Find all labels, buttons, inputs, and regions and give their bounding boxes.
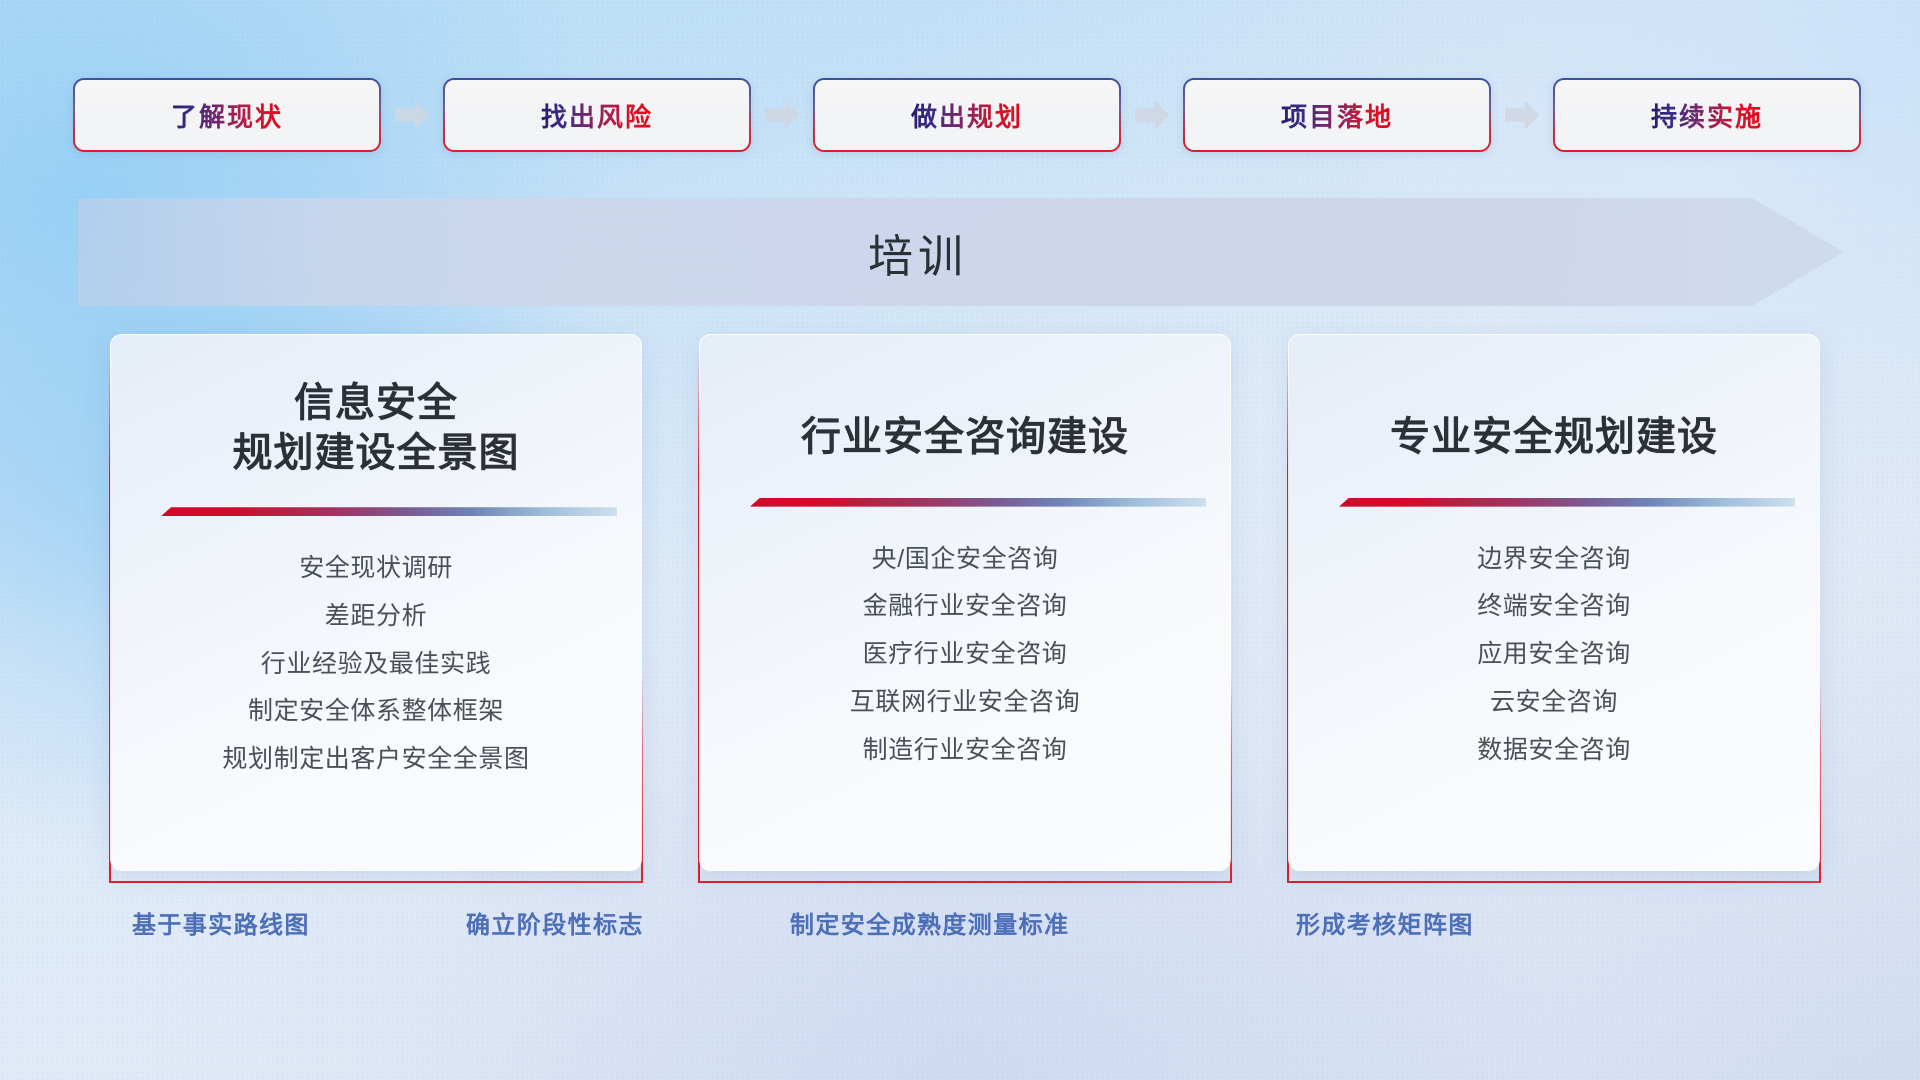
card-industry-consulting[interactable]: 行业安全咨询建设 央/国企安全咨询 金融行业安全咨询 医疗行业安全咨询 互联网行… xyxy=(699,334,1231,871)
card-divider-wrap-3 xyxy=(1323,491,1785,517)
arrow-right-icon-4 xyxy=(1505,100,1539,130)
training-banner: 培训 xyxy=(78,198,1844,306)
list-item: 应用安全咨询 xyxy=(1477,638,1631,672)
list-item: 差距分析 xyxy=(325,600,427,634)
step-label-5: 持续实施 xyxy=(1651,97,1763,134)
card-panorama[interactable]: 信息安全 规划建设全景图 安全现状调研 差距分析 行业经验及最佳实践 制定安全体… xyxy=(110,334,642,871)
list-item: 医疗行业安全咨询 xyxy=(863,638,1068,672)
card-item-list-1: 安全现状调研 差距分析 行业经验及最佳实践 制定安全体系整体框架 规划制定出客户… xyxy=(145,552,607,777)
card-content-2: 行业安全咨询建设 央/国企安全咨询 金融行业安全咨询 医疗行业安全咨询 互联网行… xyxy=(699,334,1231,871)
step-label-4: 项目落地 xyxy=(1281,97,1393,134)
footer-label-roadmap: 基于事实路线图 xyxy=(132,905,310,940)
card-divider-2 xyxy=(750,498,1206,507)
card-title-1: 信息安全 规划建设全景图 xyxy=(145,379,607,478)
list-item: 安全现状调研 xyxy=(299,552,453,586)
step-group-4: 持续实施 xyxy=(1553,78,1861,152)
card-title-2: 行业安全咨询建设 xyxy=(734,413,1196,463)
step-box-3[interactable]: 做出规划 xyxy=(813,78,1121,152)
footer-label-maturity-standard: 制定安全成熟度测量标准 xyxy=(790,905,1069,940)
arrow-right-icon-1 xyxy=(395,100,429,130)
list-item: 互联网行业安全咨询 xyxy=(850,686,1080,720)
card-title-3: 专业安全规划建设 xyxy=(1323,413,1785,463)
list-item: 行业经验及最佳实践 xyxy=(261,648,491,682)
step-box-5[interactable]: 持续实施 xyxy=(1553,78,1861,152)
card-divider-1 xyxy=(161,507,617,516)
step-group-1: 找出风险 xyxy=(443,78,813,152)
footer-label-milestones: 确立阶段性标志 xyxy=(466,905,644,940)
step-box-4[interactable]: 项目落地 xyxy=(1183,78,1491,152)
list-item: 数据安全咨询 xyxy=(1477,734,1631,768)
list-item: 规划制定出客户安全全景图 xyxy=(222,743,529,777)
step-group-0: 了解现状 xyxy=(73,78,443,152)
arrow-right-icon-3 xyxy=(1135,100,1169,130)
step-label-1: 了解现状 xyxy=(171,97,283,134)
list-item: 云安全咨询 xyxy=(1490,686,1618,720)
card-row: 信息安全 规划建设全景图 安全现状调研 差距分析 行业经验及最佳实践 制定安全体… xyxy=(110,334,1820,871)
card-item-list-2: 央/国企安全咨询 金融行业安全咨询 医疗行业安全咨询 互联网行业安全咨询 制造行… xyxy=(734,543,1196,768)
card-content-3: 专业安全规划建设 边界安全咨询 终端安全咨询 应用安全咨询 云安全咨询 数据安全… xyxy=(1288,334,1820,871)
card-divider-3 xyxy=(1339,498,1795,507)
step-group-3: 项目落地 xyxy=(1183,78,1553,152)
card-divider-wrap-2 xyxy=(734,491,1196,517)
card-professional-planning[interactable]: 专业安全规划建设 边界安全咨询 终端安全咨询 应用安全咨询 云安全咨询 数据安全… xyxy=(1288,334,1820,871)
list-item: 制定安全体系整体框架 xyxy=(248,695,504,729)
footer-label-row: 基于事实路线图 确立阶段性标志 制定安全成熟度测量标准 形成考核矩阵图 xyxy=(0,905,1920,965)
step-label-3: 做出规划 xyxy=(911,97,1023,134)
card-content-1: 信息安全 规划建设全景图 安全现状调研 差距分析 行业经验及最佳实践 制定安全体… xyxy=(110,334,642,871)
step-label-2: 找出风险 xyxy=(541,97,653,134)
process-step-flow: 了解现状 找出风险 做出规划 项目落地 持续实施 xyxy=(73,78,1849,152)
list-item: 金融行业安全咨询 xyxy=(863,590,1068,624)
step-group-2: 做出规划 xyxy=(813,78,1183,152)
card-item-list-3: 边界安全咨询 终端安全咨询 应用安全咨询 云安全咨询 数据安全咨询 xyxy=(1323,543,1785,768)
list-item: 制造行业安全咨询 xyxy=(863,734,1068,768)
card-divider-wrap-1 xyxy=(145,500,607,526)
list-item: 终端安全咨询 xyxy=(1477,590,1631,624)
step-box-2[interactable]: 找出风险 xyxy=(443,78,751,152)
training-banner-label: 培训 xyxy=(78,198,1758,306)
footer-label-assessment-matrix: 形成考核矩阵图 xyxy=(1296,905,1474,940)
list-item: 央/国企安全咨询 xyxy=(872,543,1059,577)
arrow-right-icon-2 xyxy=(765,100,799,130)
list-item: 边界安全咨询 xyxy=(1477,543,1631,577)
step-box-1[interactable]: 了解现状 xyxy=(73,78,381,152)
